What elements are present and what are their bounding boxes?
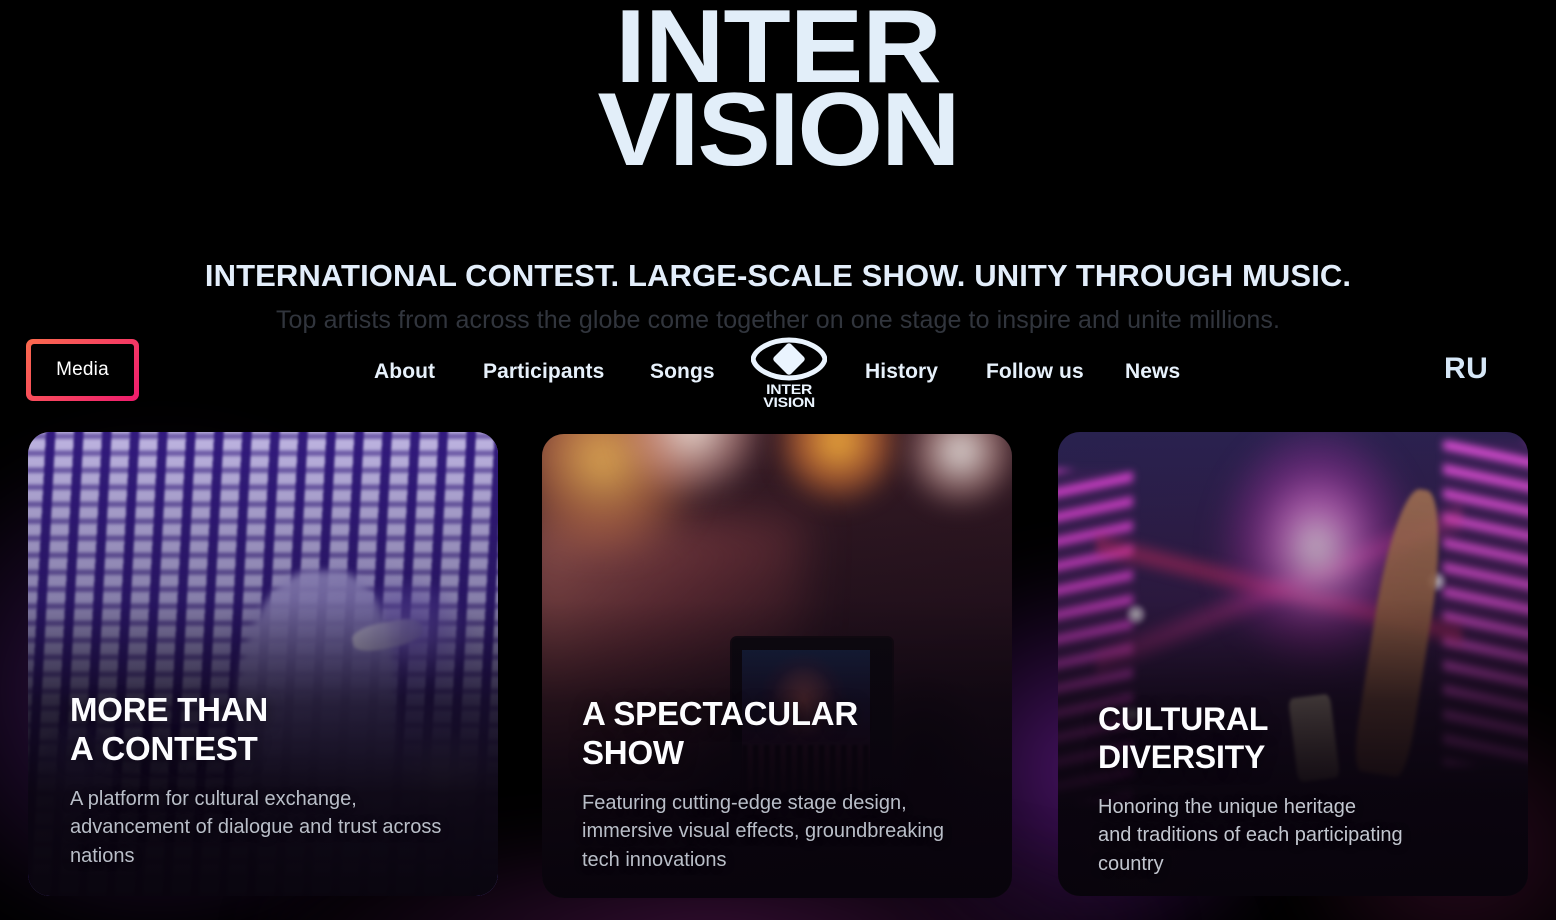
card-title: MORE THAN A CONTEST [70, 691, 468, 769]
card-desc-line-1: A platform for cultural exchange, [70, 785, 468, 813]
card-title-line-2: SHOW [582, 734, 982, 773]
card-title-line-1: CULTURAL [1098, 701, 1498, 739]
card-desc-line-3: country [1098, 850, 1498, 878]
card-desc-line-3: nations [70, 842, 468, 870]
card-desc-line-1: Honoring the unique heritage [1098, 793, 1498, 821]
card-desc-line-1: Featuring cutting-edge stage design, [582, 789, 982, 817]
card-description: Honoring the unique heritage and traditi… [1098, 793, 1498, 878]
card-description: Featuring cutting-edge stage design, imm… [582, 789, 982, 874]
feature-card-more-than-a-contest[interactable]: MORE THAN A CONTEST A platform for cultu… [28, 432, 498, 896]
card-body: CULTURAL DIVERSITY Honoring the unique h… [1098, 701, 1498, 878]
card-title-line-2: A CONTEST [70, 730, 468, 769]
card-body: A SPECTACULAR SHOW Featuring cutting-edg… [582, 695, 982, 874]
card-desc-line-2: and traditions of each participating [1098, 821, 1498, 849]
card-desc-line-2: immersive visual effects, groundbreaking [582, 817, 982, 845]
card-title: CULTURAL DIVERSITY [1098, 701, 1498, 777]
card-title-line-1: A SPECTACULAR [582, 695, 982, 734]
card-body: MORE THAN A CONTEST A platform for cultu… [70, 691, 468, 870]
feature-cards: MORE THAN A CONTEST A platform for cultu… [0, 0, 1556, 920]
page-root: INTER VISION INTERNATIONAL CONTEST. LARG… [0, 0, 1556, 920]
feature-card-cultural-diversity[interactable]: CULTURAL DIVERSITY Honoring the unique h… [1058, 432, 1528, 896]
card-title-line-2: DIVERSITY [1098, 739, 1498, 777]
feature-card-a-spectacular-show[interactable]: A SPECTACULAR SHOW Featuring cutting-edg… [542, 434, 1012, 898]
card-title: A SPECTACULAR SHOW [582, 695, 982, 773]
card-description: A platform for cultural exchange, advanc… [70, 785, 468, 870]
card-desc-line-2: advancement of dialogue and trust across [70, 813, 468, 841]
card-desc-line-3: tech innovations [582, 846, 982, 874]
card-title-line-1: MORE THAN [70, 691, 468, 730]
